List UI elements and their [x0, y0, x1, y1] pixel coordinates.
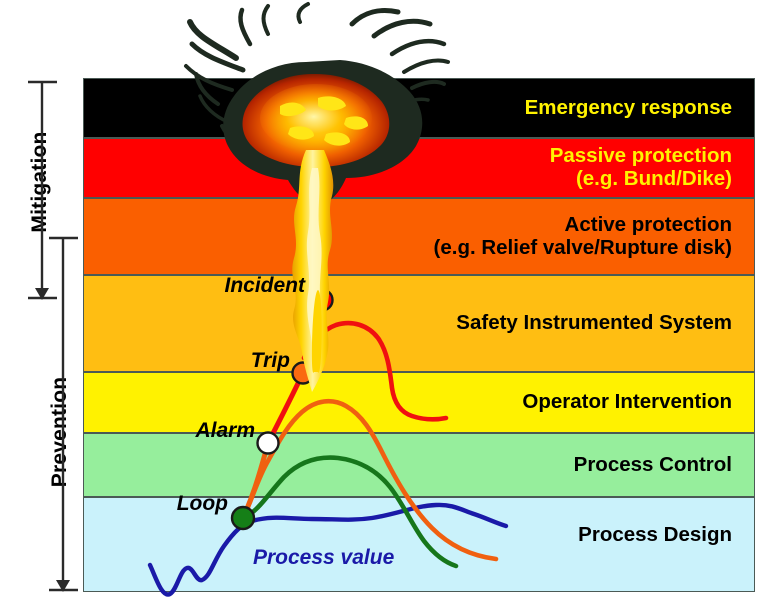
- mitigation-bracket-label: Mitigation: [28, 102, 52, 262]
- safety-layers-diagram: Mitigation Prevention Emergency response…: [0, 0, 768, 608]
- layer-label-active-protection: Active protection (e.g. Relief valve/Rup…: [434, 214, 754, 260]
- layer-label-process-control: Process Control: [574, 454, 754, 477]
- event-label-alarm: Alarm: [95, 419, 255, 443]
- curve-label-process-value: Process value: [253, 546, 394, 570]
- layer-label-passive-protection: Passive protection (e.g. Bund/Dike): [550, 145, 754, 191]
- layer-band-emergency-response[interactable]: Emergency response: [83, 78, 755, 138]
- prevention-arrowhead: [56, 580, 70, 592]
- event-label-loop: Loop: [70, 492, 228, 516]
- mitigation-arrowhead: [35, 288, 49, 300]
- prevention-bracket-label: Prevention: [48, 332, 72, 532]
- layer-label-operator-intervention: Operator Intervention: [522, 391, 754, 414]
- layer-band-active-protection[interactable]: Active protection (e.g. Relief valve/Rup…: [83, 198, 755, 275]
- layer-label-process-design: Process Design: [578, 524, 754, 565]
- layer-label-emergency-response: Emergency response: [525, 97, 754, 120]
- layer-label-safety-instrumented-system: Safety Instrumented System: [456, 312, 754, 335]
- event-label-trip: Trip: [135, 349, 290, 373]
- layer-band-passive-protection[interactable]: Passive protection (e.g. Bund/Dike): [83, 138, 755, 198]
- event-label-incident: Incident: [145, 274, 305, 298]
